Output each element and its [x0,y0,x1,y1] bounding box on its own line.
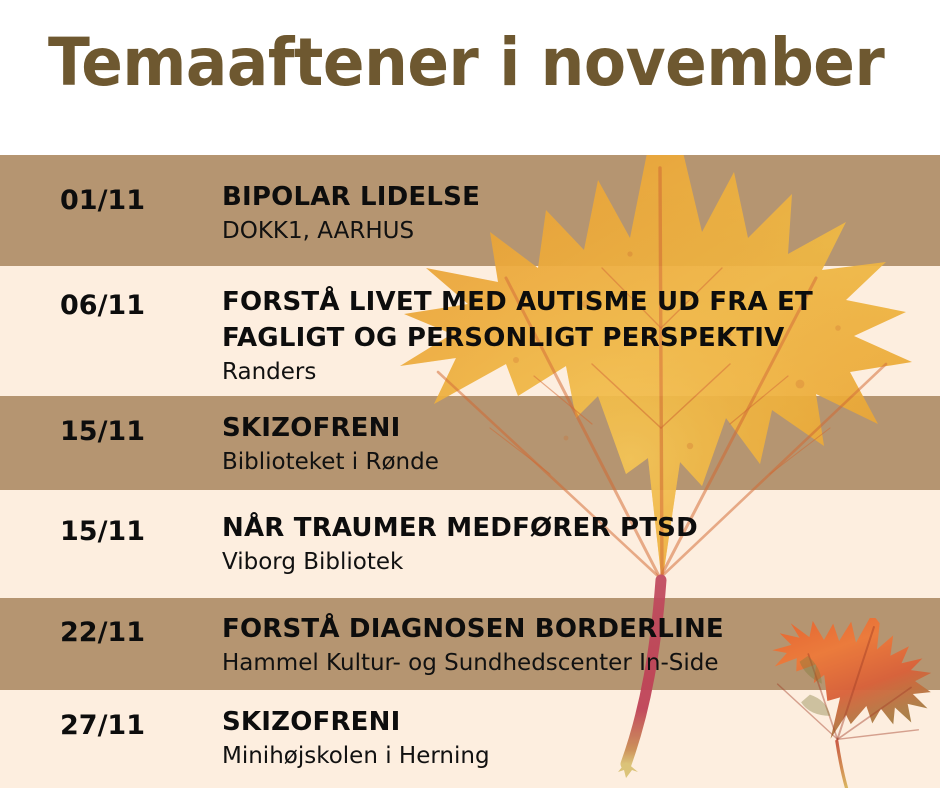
event-details: NÅR TRAUMER MEDFØRER PTSD Viborg Bibliot… [222,510,932,577]
list-item[interactable]: 22/11 FORSTÅ DIAGNOSEN BORDERLINE Hammel… [0,598,940,690]
event-details: FORSTÅ DIAGNOSEN BORDERLINE Hammel Kultu… [222,611,932,678]
event-venue: Minihøjskolen i Herning [222,741,932,771]
event-date: 15/11 [60,417,145,447]
list-item[interactable]: 15/11 SKIZOFRENI Biblioteket i Rønde [0,396,940,490]
event-date: 06/11 [60,291,145,321]
event-date: 01/11 [60,186,145,216]
event-venue: Viborg Bibliotek [222,547,932,577]
event-title: SKIZOFRENI [222,410,932,446]
event-date: 22/11 [60,618,145,648]
event-details: FORSTÅ LIVET MED AUTISME UD FRA ET FAGLI… [222,284,932,387]
event-venue: Hammel Kultur- og Sundhedscenter In-Side [222,648,932,678]
event-title: FORSTÅ DIAGNOSEN BORDERLINE [222,611,932,647]
list-item[interactable]: 27/11 SKIZOFRENI Minihøjskolen i Herning [0,690,940,788]
event-details: SKIZOFRENI Minihøjskolen i Herning [222,704,932,771]
list-item[interactable]: 15/11 NÅR TRAUMER MEDFØRER PTSD Viborg B… [0,490,940,598]
poster-header: Temaaftener i november [0,0,940,155]
event-title: FORSTÅ LIVET MED AUTISME UD FRA ET FAGLI… [222,284,822,356]
event-date: 15/11 [60,517,145,547]
poster-canvas: Temaaftener i november 01/11 BIPOLAR LID… [0,0,940,788]
event-title: SKIZOFRENI [222,704,932,740]
event-venue: DOKK1, AARHUS [222,216,932,246]
event-title: BIPOLAR LIDELSE [222,179,932,215]
event-title: NÅR TRAUMER MEDFØRER PTSD [222,510,932,546]
page-title: Temaaftener i november [48,26,884,100]
event-venue: Randers [222,357,932,387]
list-item[interactable]: 01/11 BIPOLAR LIDELSE DOKK1, AARHUS [0,155,940,266]
event-venue: Biblioteket i Rønde [222,447,932,477]
event-details: SKIZOFRENI Biblioteket i Rønde [222,410,932,477]
list-item[interactable]: 06/11 FORSTÅ LIVET MED AUTISME UD FRA ET… [0,266,940,396]
event-date: 27/11 [60,711,145,741]
event-details: BIPOLAR LIDELSE DOKK1, AARHUS [222,179,932,246]
